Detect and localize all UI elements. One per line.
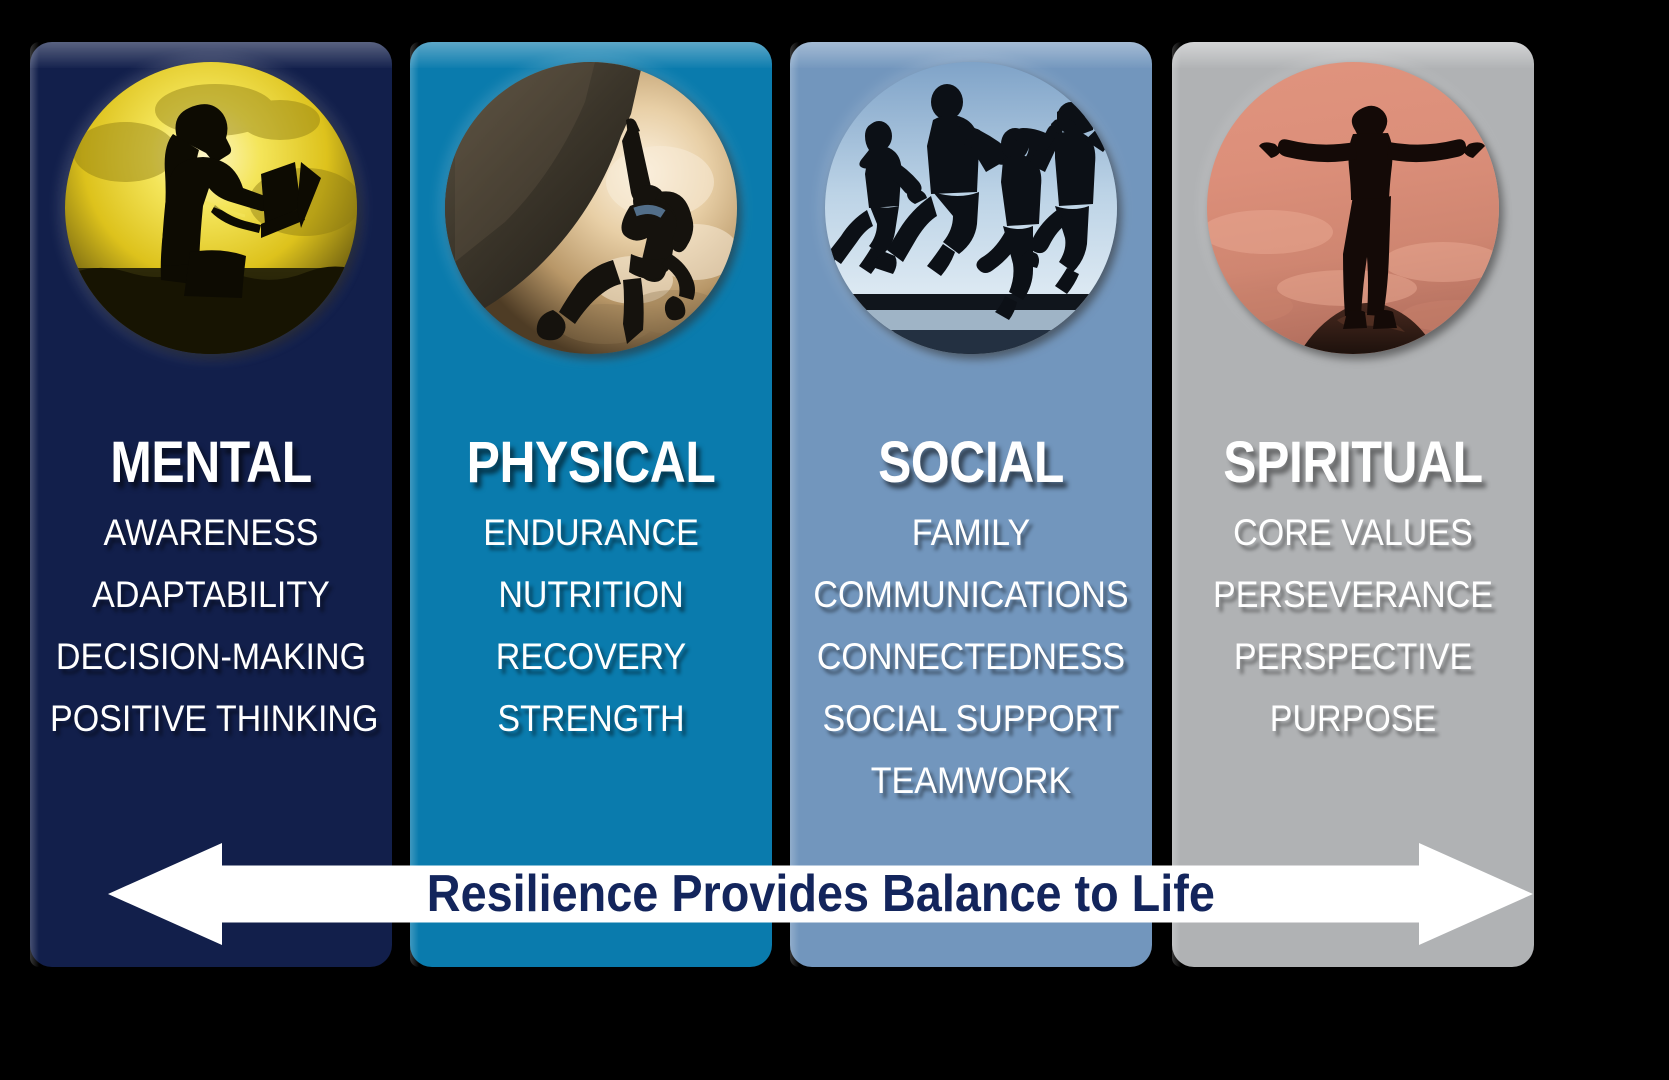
pillar-image-spiritual-wrap [1207, 62, 1499, 354]
pillar-panel-social: SOCIAL FAMILY COMMUNICATIONS CONNECTEDNE… [790, 42, 1152, 967]
pillar-panel-physical: PHYSICAL ENDURANCE NUTRITION RECOVERY ST… [410, 42, 772, 967]
pillar-heading-spiritual: SPIRITUAL [1203, 434, 1504, 492]
pillar-item: CONNECTEDNESS [810, 638, 1132, 675]
pillar-text-social: SOCIAL FAMILY COMMUNICATIONS CONNECTEDNE… [790, 434, 1152, 824]
rock-climber-silhouette-icon [445, 62, 737, 354]
pillar-text-spiritual: SPIRITUAL CORE VALUES PERSEVERANCE PERSP… [1172, 434, 1534, 762]
pillar-item: PURPOSE [1192, 700, 1514, 737]
pillar-item: POSITIVE THINKING [50, 700, 372, 737]
pillar-item: FAMILY [810, 514, 1132, 551]
pillar-image-mental-wrap [65, 62, 357, 354]
pillar-text-physical: PHYSICAL ENDURANCE NUTRITION RECOVERY ST… [410, 434, 772, 762]
pillar-image-social-wrap [825, 62, 1117, 354]
pillar-item: PERSEVERANCE [1192, 576, 1514, 613]
banner-label: Resilience Provides Balance to Life [426, 864, 1214, 924]
infographic-root: MENTAL AWARENESS ADAPTABILITY DECISION-M… [0, 0, 1669, 1080]
pillar-panel-mental: MENTAL AWARENESS ADAPTABILITY DECISION-M… [30, 42, 392, 967]
pillar-item: RECOVERY [430, 638, 752, 675]
pillar-heading-social: SOCIAL [821, 434, 1122, 492]
pillar-item: CORE VALUES [1192, 514, 1514, 551]
pillar-image-physical-wrap [445, 62, 737, 354]
pillar-item: ADAPTABILITY [50, 576, 372, 613]
pillar-item: SOCIAL SUPPORT [810, 700, 1132, 737]
pillar-item: NUTRITION [430, 576, 752, 613]
pillar-panel-spiritual: SPIRITUAL CORE VALUES PERSEVERANCE PERSP… [1172, 42, 1534, 967]
pillar-item: TEAMWORK [810, 762, 1132, 799]
pillar-heading-physical: PHYSICAL [441, 434, 742, 492]
person-arms-outstretched-mountain-silhouette-icon [1207, 62, 1499, 354]
pillar-item: COMMUNICATIONS [810, 576, 1132, 613]
pillar-item: DECISION-MAKING [50, 638, 372, 675]
woman-reading-book-silhouette-icon [65, 62, 357, 354]
group-jumping-silhouette-icon [825, 62, 1117, 354]
pillar-item: PERSPECTIVE [1192, 638, 1514, 675]
pillar-heading-mental: MENTAL [61, 434, 362, 492]
pillar-text-mental: MENTAL AWARENESS ADAPTABILITY DECISION-M… [30, 434, 392, 762]
pillar-item: AWARENESS [50, 514, 372, 551]
pillar-item: STRENGTH [430, 700, 752, 737]
pillar-item: ENDURANCE [430, 514, 752, 551]
